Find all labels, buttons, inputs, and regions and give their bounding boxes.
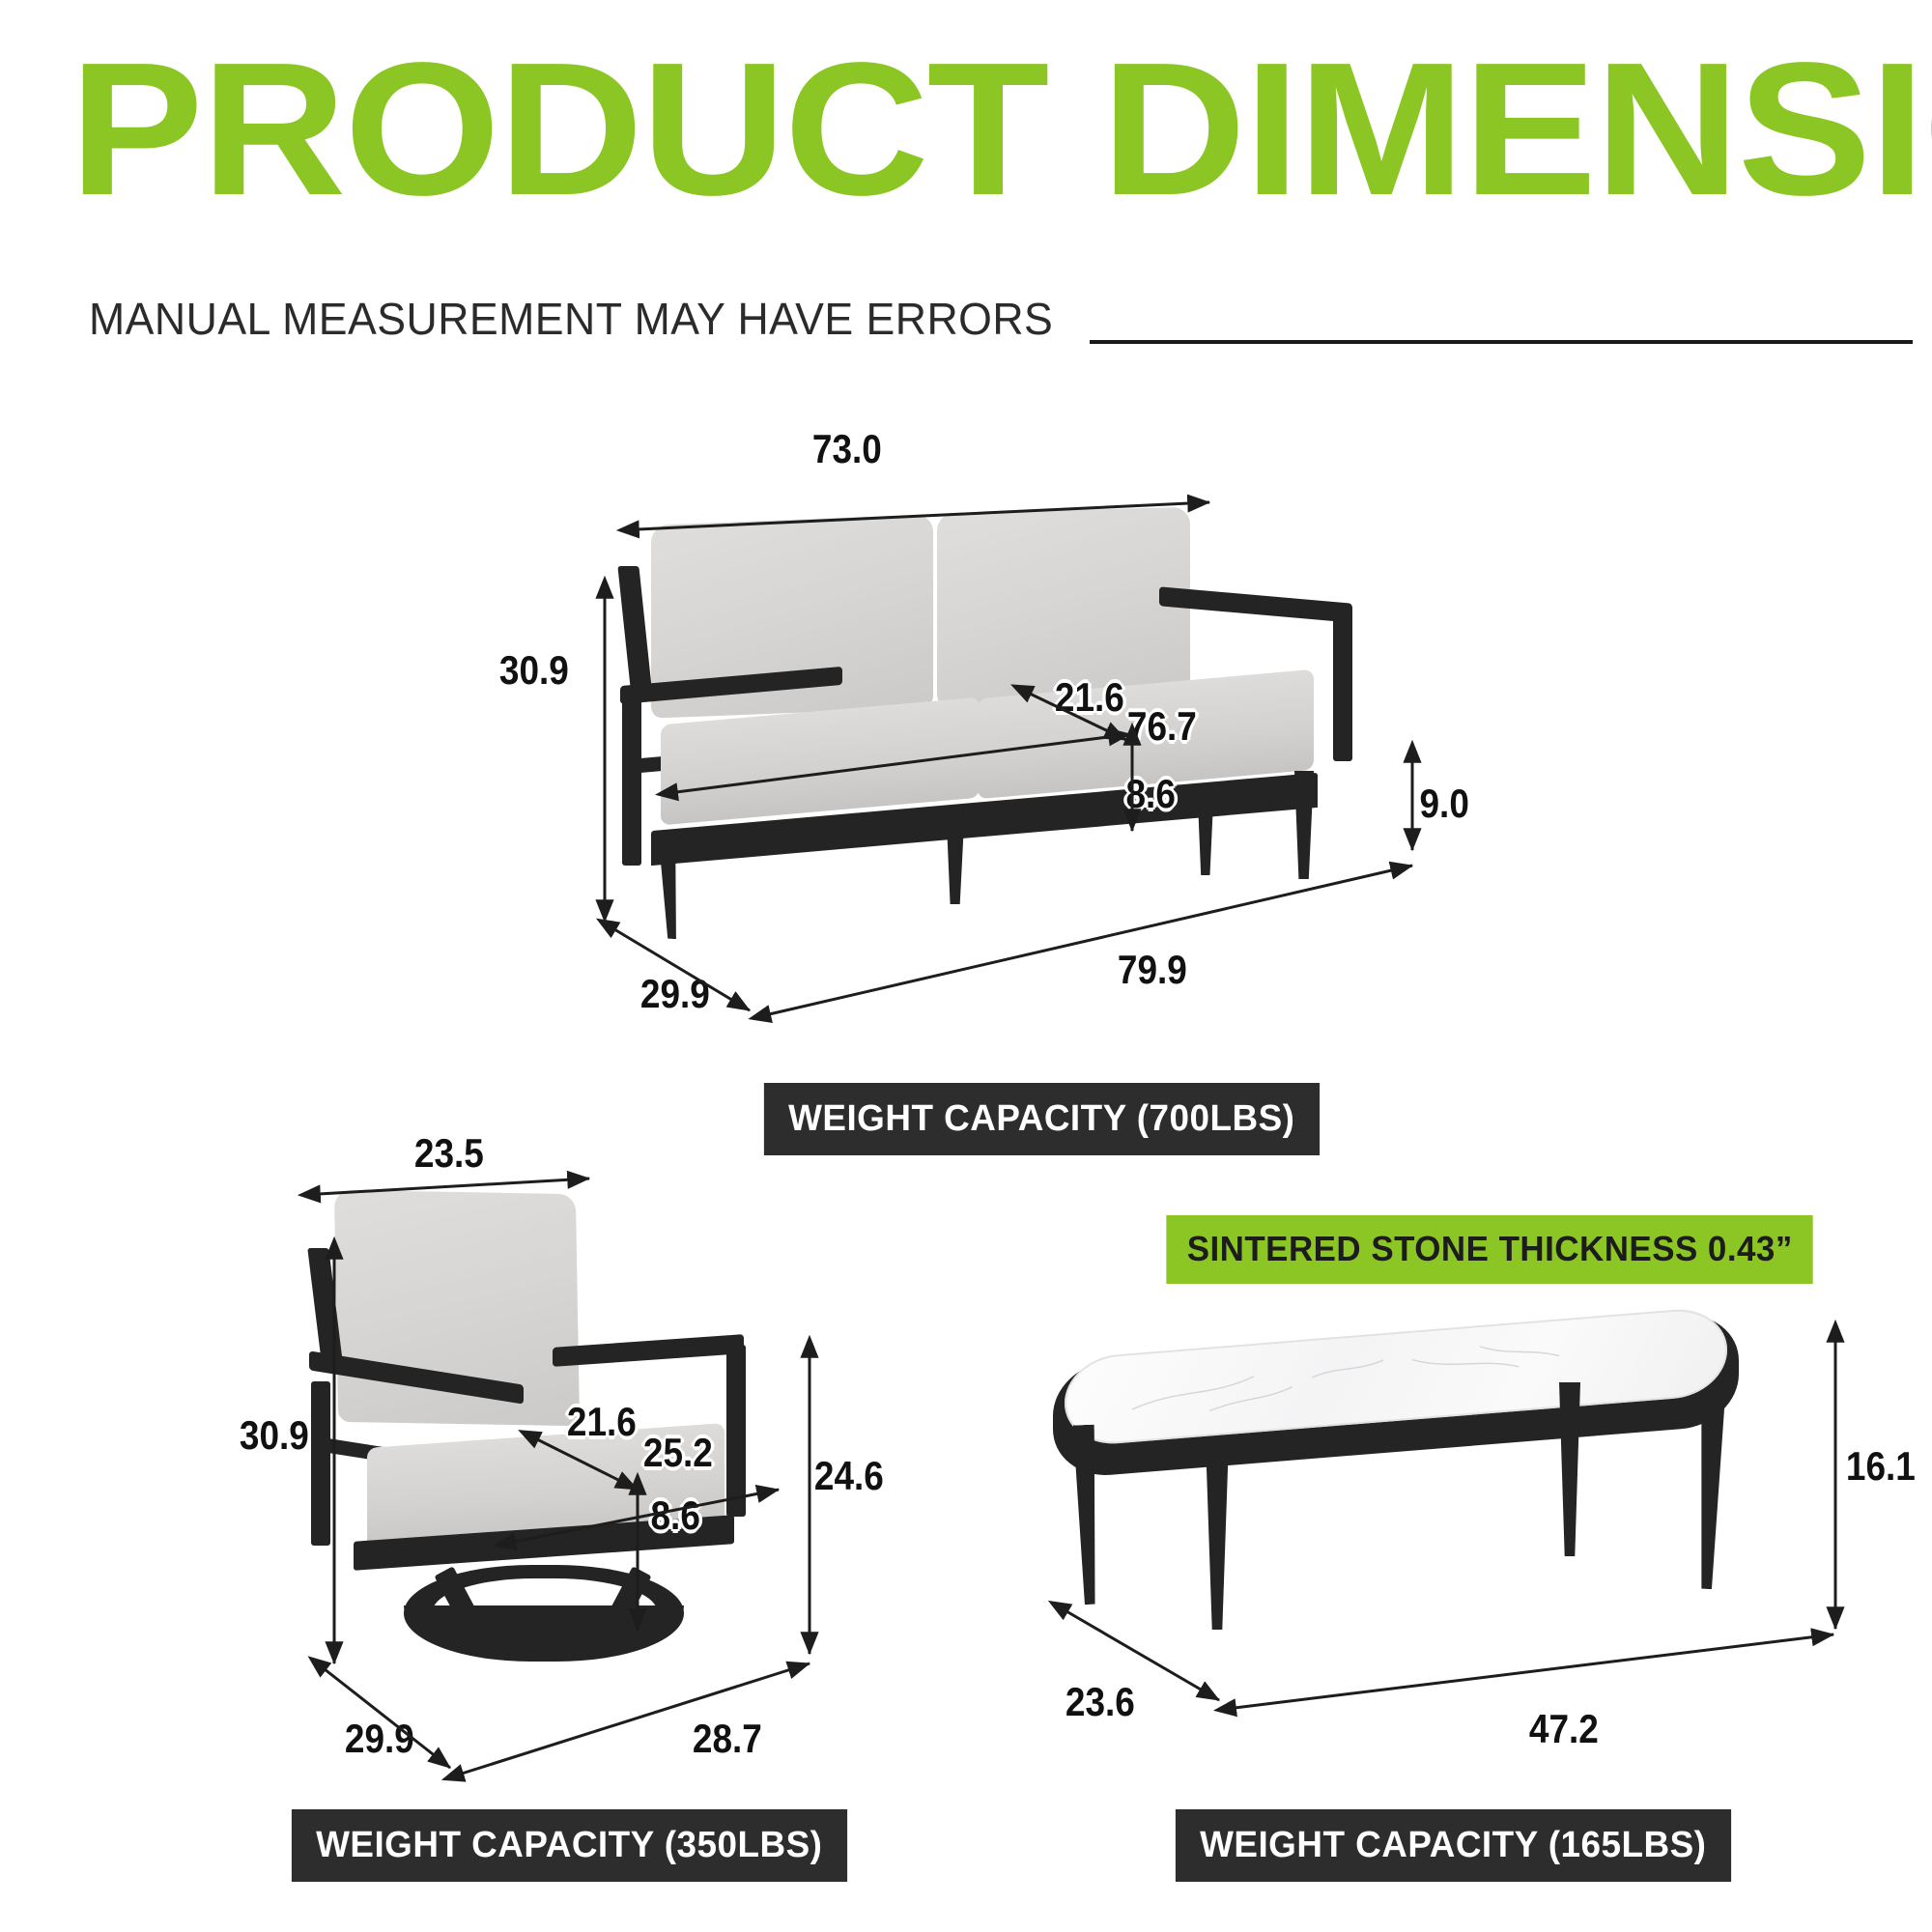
dimension-leader-lines <box>0 0 1932 1932</box>
sintered-stone-thickness-banner: SINTERED STONE THICKNESS 0.43” <box>1166 1215 1813 1284</box>
page-title: PRODUCT DIMENSIONS <box>70 33 1932 226</box>
sofa-dim-overall-width: 79.9 <box>1118 949 1187 991</box>
sofa-dim-seat-width: 76.7 <box>1127 705 1197 748</box>
chair-dim-overall-width: 28.7 <box>693 1718 762 1760</box>
chair-dim-overall-depth: 29.9 <box>345 1718 414 1760</box>
sofa-dim-top-width: 73.0 <box>812 428 882 470</box>
chair-dim-seat-depth: 21.6 <box>567 1401 637 1443</box>
sofa-dim-overall-depth: 29.9 <box>640 973 710 1015</box>
table-dim-overall-width: 47.2 <box>1529 1708 1599 1750</box>
chair-dim-overall-height: 30.9 <box>240 1414 309 1457</box>
coffee-table-illustration <box>1053 1328 1787 1618</box>
chair-dim-arm-height: 24.6 <box>814 1455 884 1497</box>
chair-weight-capacity-badge: WEIGHT CAPACITY (350LBS) <box>292 1809 847 1882</box>
sofa-dim-cushion-thickness: 8.6 <box>1126 773 1176 815</box>
sofa-dim-seat-depth: 21.6 <box>1055 676 1124 719</box>
table-weight-capacity-badge: WEIGHT CAPACITY (165LBS) <box>1176 1809 1731 1882</box>
table-dim-overall-depth: 23.6 <box>1065 1681 1135 1723</box>
chair-dim-seat-width: 25.2 <box>643 1432 713 1474</box>
header-divider <box>1090 340 1913 344</box>
chair-dim-top-width: 23.5 <box>414 1132 484 1175</box>
page-subtitle: MANUAL MEASUREMENT MAY HAVE ERRORS <box>89 295 1053 343</box>
chair-dim-cushion-thickness: 8.6 <box>651 1494 700 1537</box>
sofa-dim-overall-height: 30.9 <box>499 649 569 692</box>
table-dim-overall-height: 16.1 <box>1846 1445 1916 1488</box>
sofa-weight-capacity-badge: WEIGHT CAPACITY (700LBS) <box>764 1083 1320 1155</box>
sofa-dim-leg-height: 9.0 <box>1420 782 1469 825</box>
sofa-illustration <box>618 512 1372 966</box>
product-dimensions-infographic: PRODUCT DIMENSIONS MANUAL MEASUREMENT MA… <box>0 0 1932 1932</box>
